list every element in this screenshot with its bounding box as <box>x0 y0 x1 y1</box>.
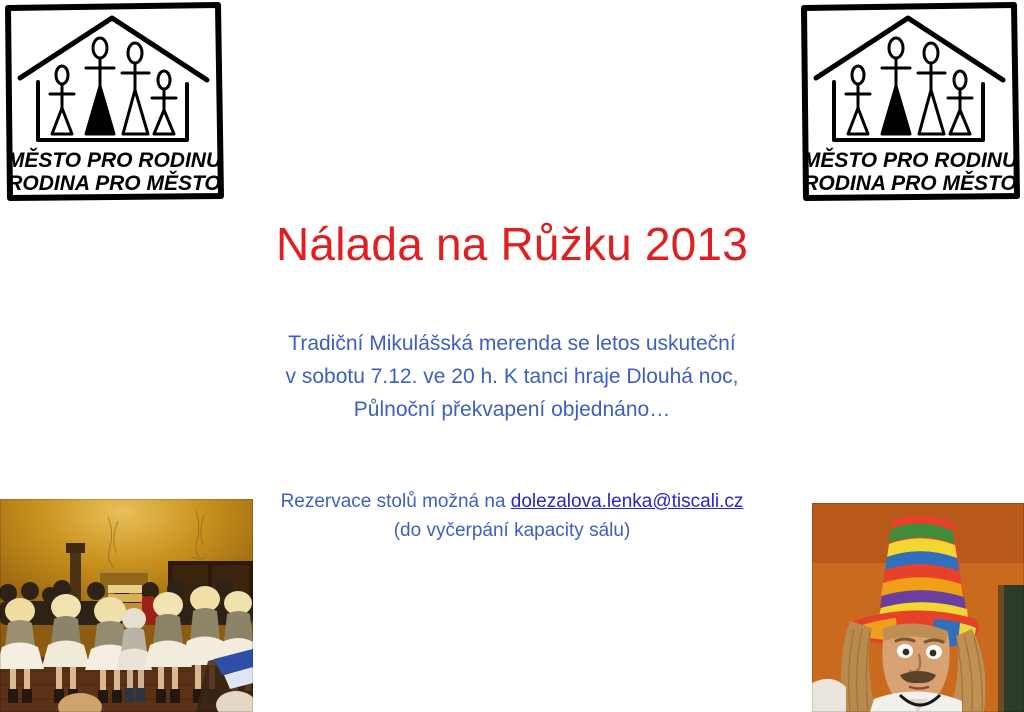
body-line-2: v sobotu 7.12. ve 20 h. K tanci hraje Dl… <box>0 360 1024 393</box>
photo-dancers-in-hall <box>0 499 253 712</box>
mesto-pro-rodinu-logo-right: MĚSTO PRO RODINU RODINA PRO MĚSTO <box>798 0 1022 202</box>
reservation-email-link[interactable]: dolezalova.lenka@tiscali.cz <box>511 491 744 512</box>
poster-body-text: Tradiční Mikulášská merenda se letos usk… <box>0 327 1024 426</box>
logo-line1-text: MĚSTO PRO RODINU <box>803 148 1018 172</box>
photo-man-hat-image <box>812 503 1024 712</box>
body-line-3: Půlnoční překvapení objednáno… <box>0 393 1024 426</box>
mesto-pro-rodinu-logo-left: MĚSTO PRO RODINU RODINA PRO MĚSTO <box>2 0 226 202</box>
poster-title: Nálada na Růžku 2013 <box>0 218 1024 271</box>
logo-line2-text: RODINA PRO MĚSTO <box>7 171 221 195</box>
logo-line2-text: RODINA PRO MĚSTO <box>803 171 1017 195</box>
body-line-1: Tradiční Mikulášská merenda se letos usk… <box>0 327 1024 360</box>
logo-line1-text: MĚSTO PRO RODINU <box>7 148 222 172</box>
photo-dancers-image <box>0 499 253 712</box>
reservation-prefix-label: Rezervace stolů možná na <box>281 491 511 512</box>
family-house-logo-icon: MĚSTO PRO RODINU RODINA PRO MĚSTO <box>798 0 1022 202</box>
poster-canvas: MĚSTO PRO RODINU RODINA PRO MĚSTO MĚSTO … <box>0 0 1024 712</box>
photo-man-rainbow-hat <box>812 503 1024 712</box>
family-house-logo-icon: MĚSTO PRO RODINU RODINA PRO MĚSTO <box>2 0 226 202</box>
